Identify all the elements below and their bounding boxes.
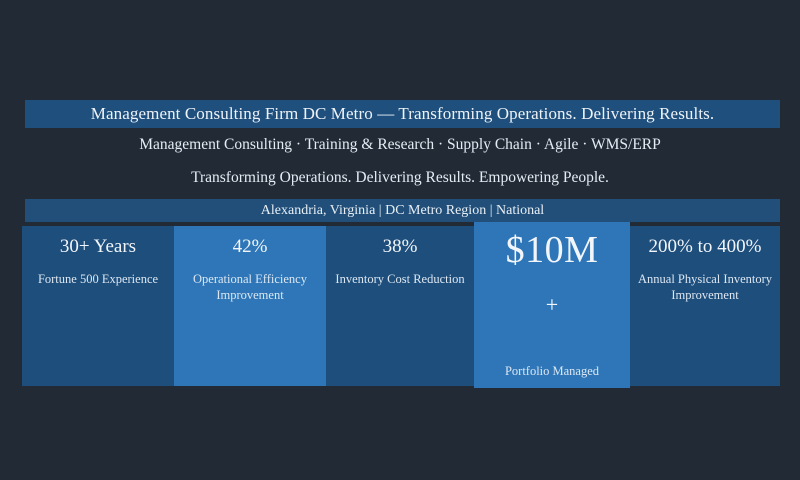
location-text: Alexandria, Virginia | DC Metro Region |… — [261, 203, 544, 219]
stat-value: 42% — [233, 234, 268, 260]
stat-label: Portfolio Managed — [474, 363, 630, 379]
stat-label: Operational Efficiency Improvement — [174, 271, 326, 303]
stat-card-annual-physical-inventory: 200% to 400% Annual Physical Inventory I… — [630, 226, 780, 386]
stat-card-grid: 30+ Years Fortune 500 Experience 42% Ope… — [22, 226, 780, 386]
title-banner: Management Consulting Firm DC Metro — Tr… — [25, 100, 780, 128]
stat-card-inventory-cost: 38% Inventory Cost Reduction — [326, 226, 474, 386]
stat-value: 38% — [383, 234, 418, 260]
stat-value: 30+ Years — [60, 234, 136, 260]
location-banner: Alexandria, Virginia | DC Metro Region |… — [25, 199, 780, 222]
stat-label: Annual Physical Inventory Improvement — [630, 271, 780, 303]
stat-value: 200% to 400% — [649, 234, 762, 260]
page-title: Management Consulting Firm DC Metro — Tr… — [91, 104, 714, 124]
stat-card-portfolio-managed: $10M + Portfolio Managed — [474, 222, 630, 388]
stat-value: $10M — [506, 228, 599, 272]
tagline-subtitle: Transforming Operations. Delivering Resu… — [0, 169, 800, 187]
stat-card-operational-efficiency: 42% Operational Efficiency Improvement — [174, 226, 326, 386]
plus-sign: + — [546, 294, 558, 316]
stat-label: Inventory Cost Reduction — [327, 271, 472, 287]
stat-card-fortune-500: 30+ Years Fortune 500 Experience — [22, 226, 174, 386]
stat-label: Fortune 500 Experience — [30, 271, 166, 287]
services-subtitle: Management Consulting · Training & Resea… — [0, 136, 800, 154]
slide-canvas: Management Consulting Firm DC Metro — Tr… — [0, 0, 800, 480]
